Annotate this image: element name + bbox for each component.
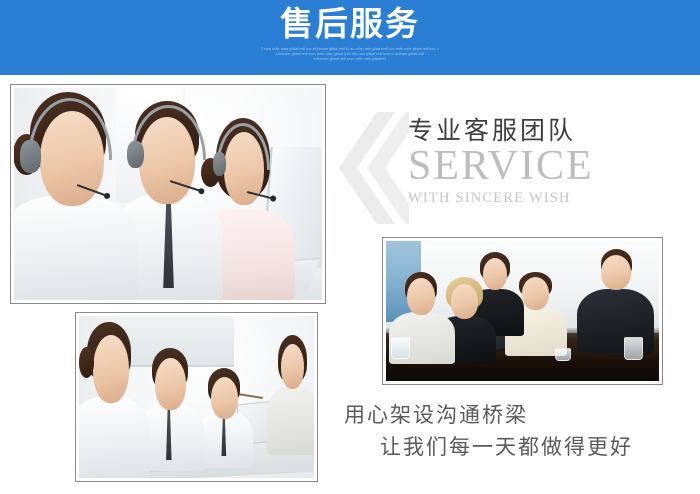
photo-team-training-meeting-image	[79, 316, 314, 478]
tagline-line-1: 用心架设沟通桥梁	[344, 400, 684, 432]
photo-team-training-meeting	[75, 312, 318, 482]
photo-boardroom-discussion-image	[386, 241, 659, 381]
photo-boardroom-discussion	[382, 237, 663, 385]
tagline-line-2: 让我们每一天都做得更好	[344, 432, 684, 464]
service-headline-en: SERVICE	[408, 144, 658, 188]
photo-call-center-agents-image	[14, 88, 322, 300]
service-subtitle-en: WITH SINCERE WISH	[408, 189, 658, 207]
service-headline-cn: 专业客服团队	[408, 116, 658, 146]
header-subtext-line-3: s thoroem gilstaf redf sous onfte roem g…	[0, 57, 700, 62]
header-banner: 售后服务 7 sous onfte roem gilstaf redf suo …	[0, 0, 700, 75]
service-promo-page: 售后服务 7 sous onfte roem gilstaf redf suo …	[0, 0, 700, 494]
service-headline-block: 专业客服团队 SERVICE WITH SINCERE WISH	[408, 116, 658, 207]
tagline-block: 用心架设沟通桥梁 让我们每一天都做得更好	[344, 400, 684, 464]
header-subtext: 7 sous onfte roem gilstaf redf suo ed fo…	[0, 47, 700, 63]
page-title: 售后服务	[0, 4, 700, 44]
double-chevron-icon	[333, 112, 409, 224]
photo-call-center-agents	[10, 84, 326, 304]
